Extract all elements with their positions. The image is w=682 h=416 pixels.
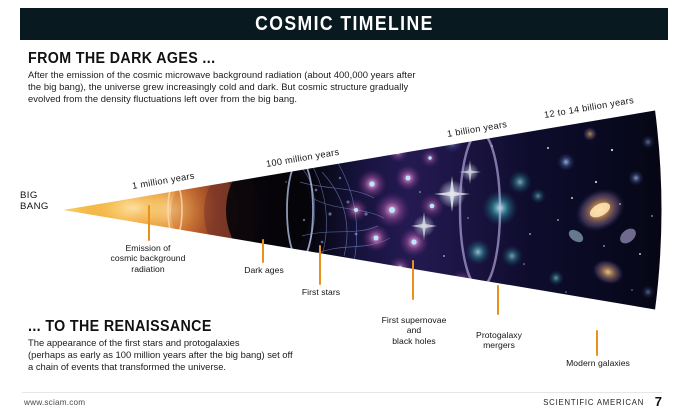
- page-title: COSMIC TIMELINE: [255, 13, 434, 36]
- title-bar: COSMIC TIMELINE: [20, 8, 668, 40]
- footer-page-number: 7: [655, 394, 662, 409]
- leader-line-protogalaxy-mergers: [497, 285, 499, 315]
- leader-line-cmb-emission: [148, 205, 150, 241]
- callout-protogalaxy-mergers: Protogalaxy mergers: [460, 330, 538, 351]
- outro-line-2: (perhaps as early as 100 million years a…: [28, 349, 448, 361]
- callout-cmb-emission: Emission of cosmic background radiation: [92, 243, 204, 274]
- outro-line-3: a chain of events that transformed the u…: [28, 361, 448, 373]
- leader-line-dark-ages: [262, 239, 264, 263]
- callout-dark-ages: Dark ages: [226, 265, 302, 275]
- leader-line-first-stars: [319, 245, 321, 285]
- leader-line-first-supernovae: [412, 260, 414, 300]
- big-bang-label: BIG BANG: [20, 190, 49, 212]
- footer-website[interactable]: www.sciam.com: [24, 398, 85, 407]
- leader-line-modern-galaxies: [596, 330, 598, 356]
- page-canvas: COSMIC TIMELINE FROM THE DARK AGES ... A…: [0, 0, 682, 416]
- outro-paragraph: The appearance of the first stars and pr…: [28, 337, 448, 374]
- footer-publication: SCIENTIFIC AMERICAN: [543, 397, 644, 407]
- callout-first-stars: First stars: [288, 287, 354, 297]
- intro-line-1: After the emission of the cosmic microwa…: [28, 69, 498, 81]
- footer-divider: [22, 392, 662, 393]
- outro-heading: ... TO THE RENAISSANCE: [28, 318, 212, 336]
- callout-modern-galaxies: Modern galaxies: [548, 358, 648, 368]
- outro-line-1: The appearance of the first stars and pr…: [28, 337, 448, 349]
- intro-heading: FROM THE DARK AGES ...: [28, 50, 215, 68]
